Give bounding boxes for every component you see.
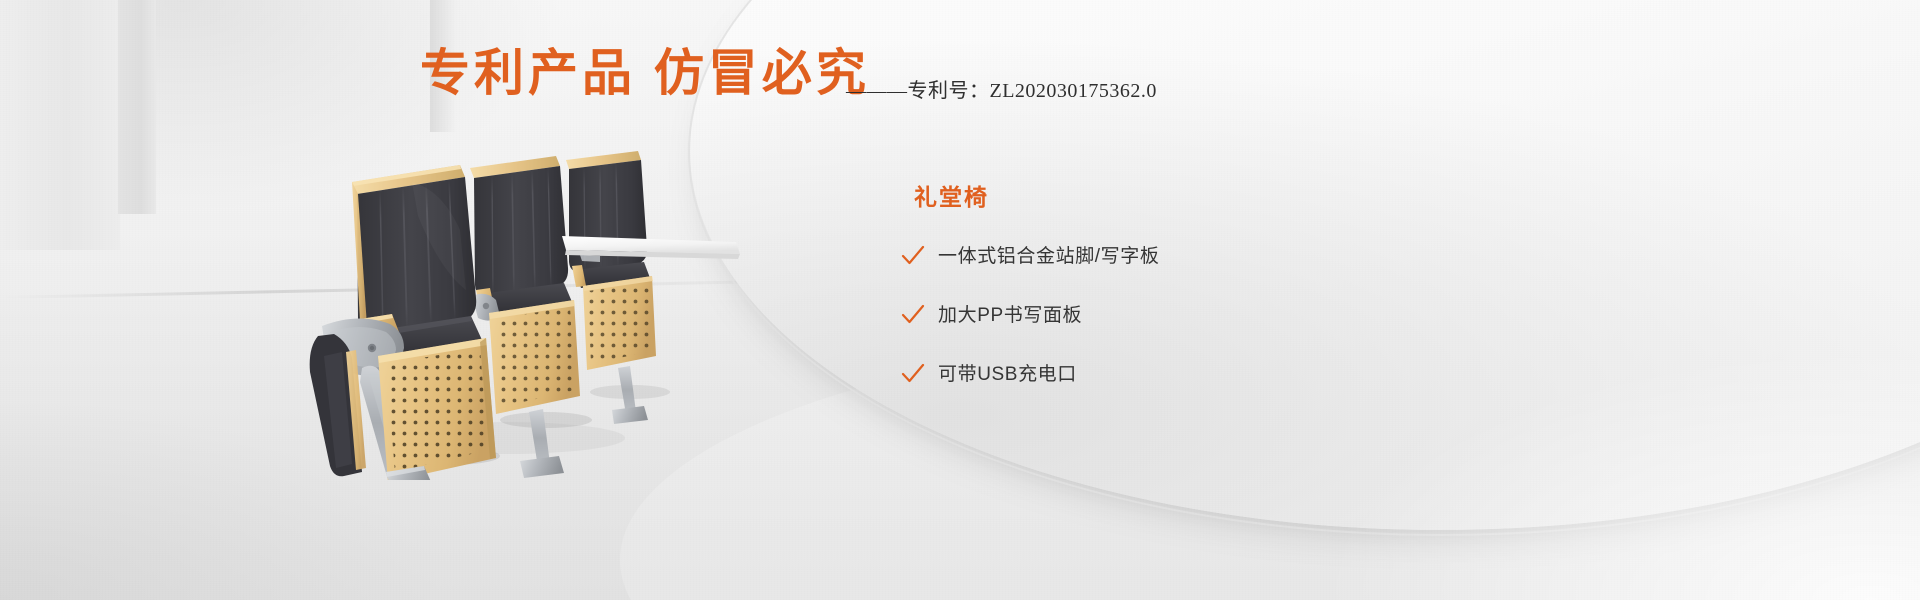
list-item: 可带USB充电口	[900, 361, 1320, 387]
check-icon	[900, 361, 926, 387]
chair-seat-3	[566, 151, 656, 424]
list-item: 加大PP书写面板	[900, 302, 1320, 328]
check-icon	[900, 243, 926, 269]
check-icon	[900, 302, 926, 328]
page-title: 专利产品 仿冒必究	[420, 48, 870, 98]
product-banner: 专利产品 仿冒必究 ———专利号：ZL202030175362.0	[0, 0, 1920, 600]
chair-seat-1	[310, 165, 496, 480]
feature-list: 礼堂椅 一体式铝合金站脚/写字板 加大PP书写面板	[900, 186, 1320, 420]
feature-label: 可带USB充电口	[938, 365, 1077, 384]
product-image	[300, 120, 820, 480]
feature-list-title: 礼堂椅	[914, 186, 1320, 209]
feature-label: 加大PP书写面板	[938, 306, 1082, 325]
list-item: 一体式铝合金站脚/写字板	[900, 243, 1320, 269]
auditorium-chair-row-illustration	[300, 120, 820, 480]
feature-label: 一体式铝合金站脚/写字板	[938, 247, 1159, 266]
patent-number: ———专利号：ZL202030175362.0	[846, 74, 1157, 103]
writing-tablet	[562, 236, 740, 262]
